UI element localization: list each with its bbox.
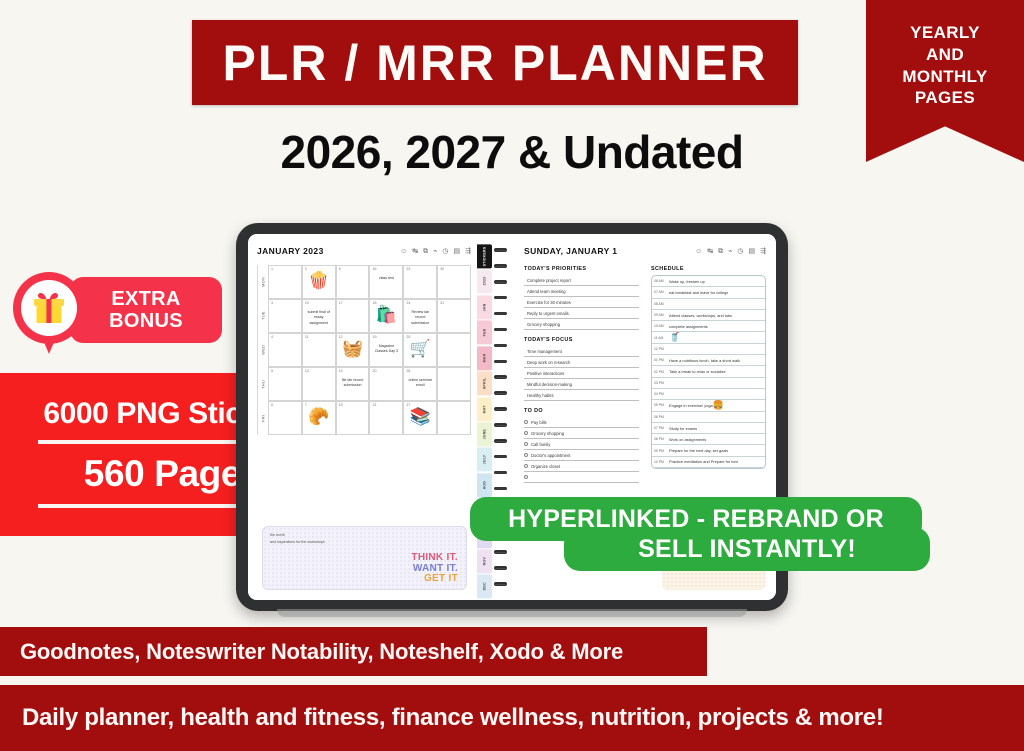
smiley-icon[interactable]: ☺ xyxy=(695,248,702,255)
focus-item[interactable]: Healthy habits xyxy=(524,390,639,401)
schedule-time: 10 AM xyxy=(652,324,669,328)
topics-bar: Daily planner, health and fitness, finan… xyxy=(0,685,1024,751)
calendar-day-number: 24 xyxy=(406,301,434,305)
daily-right-column: SCHEDULE 06 AMWake up, freshen up07 AMea… xyxy=(651,266,766,483)
priority-item[interactable]: Grocery shopping xyxy=(524,319,639,330)
calendar-day-number: 4 xyxy=(271,335,299,339)
schedule-row[interactable]: 07 AMeat breakfast and leave for college xyxy=(652,287,765,298)
focus-item[interactable]: Mindful decision-making xyxy=(524,379,639,390)
calendar-cell[interactable]: 6 xyxy=(268,401,302,435)
todo-list[interactable]: Pay billsGrocery shoppingCall familyDoct… xyxy=(524,417,639,483)
focus-list[interactable]: Time managementDeep work on researchPosi… xyxy=(524,346,639,401)
calendar-sticker[interactable]: 🛍️ xyxy=(372,306,400,323)
schedule-row[interactable]: 09 AMAttend classes, workshops, and labs xyxy=(652,310,765,321)
hyperlinked-badge: HYPERLINKED - REBRAND OR SELL INSTANTLY! xyxy=(470,497,930,569)
calendar-day-number: 9 xyxy=(339,267,367,271)
calendar-day-number: 23 xyxy=(406,267,434,271)
schedule-entry: Prepare for the next day, set goals xyxy=(669,448,728,453)
calendar-day-labels: MONTUEWEDTHUFRI xyxy=(257,265,268,435)
spiral-ring xyxy=(494,328,507,332)
calendar-cell[interactable]: 21 xyxy=(369,401,403,435)
undo-redo-icon[interactable]: ↹ xyxy=(412,248,418,255)
spiral-ring xyxy=(494,264,507,268)
calendar-sticker[interactable]: 📚 xyxy=(406,408,434,425)
calendar-cell[interactable]: 16class test xyxy=(369,265,403,299)
schedule-sticker[interactable]: 🥤 xyxy=(669,333,680,342)
month-tab-dec[interactable]: DEC xyxy=(477,574,492,598)
schedule-row[interactable]: 02 PMTake a break to relax or socialize xyxy=(652,366,765,377)
daily-toolbar[interactable]: ☺ ↹ ⧉ ⌁ ◷ ▤ ⇶ xyxy=(695,248,766,255)
schedule-row[interactable]: 04 PM xyxy=(652,389,765,400)
schedule-time: 05 PM xyxy=(652,403,669,407)
checkbox-icon[interactable] xyxy=(524,453,528,457)
todo-item-label: Grocery shopping xyxy=(531,431,564,436)
clock-icon[interactable]: ◷ xyxy=(442,248,448,255)
schedule-time: 01 PM xyxy=(652,358,669,362)
calendar-cell[interactable]: 19Magazine Classes Day 3 xyxy=(369,333,403,367)
calendar-cell[interactable]: 1 xyxy=(268,265,302,299)
priority-item[interactable]: Reply to urgent emails xyxy=(524,308,639,319)
schedule-time: 09 PM xyxy=(652,449,669,453)
todo-item[interactable]: Doctor's appointment xyxy=(524,450,639,461)
spiral-ring xyxy=(494,375,507,379)
spiral-ring xyxy=(494,487,507,491)
calendar-day-number: 16 xyxy=(372,267,400,271)
month-tab-mar[interactable]: MAR xyxy=(477,346,492,370)
schedule-row[interactable]: 01 PMHave a nutritious lunch, take a sho… xyxy=(652,355,765,366)
spiral-ring xyxy=(494,391,507,395)
daily-left-column: TODAY'S PRIORITIES Complete project repo… xyxy=(524,266,639,483)
todo-item[interactable]: Pay bills xyxy=(524,417,639,428)
layers-icon[interactable]: ⇶ xyxy=(465,248,471,255)
schedule-time: 07 AM xyxy=(652,290,669,294)
inspiration-note-card[interactable]: the worth and inspirations for the works… xyxy=(262,526,467,590)
month-tab-2023[interactable]: 2023 xyxy=(477,269,492,293)
calendar-day-number: 26 xyxy=(406,369,434,373)
schedule-time: 11 AM xyxy=(652,336,669,340)
todo-item-label: Doctor's appointment xyxy=(531,453,570,458)
page-title: PLR / MRR PLANNER xyxy=(222,34,767,92)
todo-item-label: Call family xyxy=(531,442,550,447)
monthly-calendar-page[interactable]: JANUARY 2023 ☺ ↹ ⧉ ⌁ ◷ ▤ ⇶ MONTUEWEDTHUF… xyxy=(248,234,477,600)
month-tab-may[interactable]: MAY xyxy=(477,397,492,421)
calendar-month-title: JANUARY 2023 xyxy=(257,246,324,256)
calendar-day-number: 15 xyxy=(339,403,367,407)
calendar-cell[interactable]: 7🥐 xyxy=(302,401,336,435)
calendar-day-number: 1 xyxy=(271,267,299,271)
spiral-ring xyxy=(494,471,507,475)
calendar-day-number: 21 xyxy=(372,403,400,407)
calendar-day-label: THU xyxy=(257,367,268,401)
schedule-row[interactable]: 07 PMStudy for exams xyxy=(652,423,765,434)
page-icon[interactable]: ▤ xyxy=(454,248,461,255)
schedule-time: 02 PM xyxy=(652,370,669,374)
schedule-entry: Study for exams xyxy=(669,426,697,431)
compatible-apps-text: Goodnotes, Noteswriter Notability, Notes… xyxy=(20,639,623,665)
priority-item[interactable]: Exercise for 30 minutes xyxy=(524,297,639,308)
calendar-day-number: 13 xyxy=(305,369,333,373)
clock-icon[interactable]: ◷ xyxy=(737,248,743,255)
calendar-cell[interactable]: 17 xyxy=(336,299,370,333)
checkbox-icon[interactable] xyxy=(524,442,528,446)
focus-heading: TODAY'S FOCUS xyxy=(524,337,639,343)
calendar-day-number: 11 xyxy=(305,335,333,339)
calendar-day-number: 14 xyxy=(339,369,367,373)
spacer-2 xyxy=(524,401,639,408)
calendar-cell[interactable] xyxy=(437,333,471,367)
ribbon-line-4: PAGES xyxy=(866,87,1024,109)
todo-item-label: Pay bills xyxy=(531,420,547,425)
todo-item[interactable]: Organize closet xyxy=(524,461,639,472)
calendar-day-number: 17 xyxy=(339,301,367,305)
note-line-1: the worth xyxy=(270,532,459,539)
calendar-day-number: 5 xyxy=(271,369,299,373)
month-tab-feb[interactable]: FEB xyxy=(477,320,492,344)
calendar-cell[interactable] xyxy=(437,367,471,401)
calendar-cell[interactable]: 9 xyxy=(336,265,370,299)
calendar-header: JANUARY 2023 ☺ ↹ ⧉ ⌁ ◷ ▤ ⇶ xyxy=(257,246,471,256)
spiral-ring xyxy=(494,248,507,252)
calendar-grid[interactable]: 12🍿916class test2330310submit final of e… xyxy=(268,265,471,435)
priorities-list[interactable]: Complete project reportAttend team meeti… xyxy=(524,275,639,330)
schedule-row[interactable]: 08 AM xyxy=(652,299,765,310)
calendar-cell[interactable]: 24Review lab record submission xyxy=(403,299,437,333)
schedule-row[interactable]: 10 PMPractice meditation and Prepare for… xyxy=(652,457,765,468)
focus-item[interactable]: Deep work on research xyxy=(524,357,639,368)
month-tab-jan[interactable]: JAN xyxy=(477,295,492,319)
calendar-cell[interactable]: 14file lab record submission xyxy=(336,367,370,401)
schedule-row[interactable]: 12 PM xyxy=(652,344,765,355)
schedule-time: 06 AM xyxy=(652,279,669,283)
calendar-sticker[interactable]: 🧺 xyxy=(339,340,367,357)
schedule-heading: SCHEDULE xyxy=(651,266,766,272)
calendar-cell[interactable]: 23 xyxy=(403,265,437,299)
daily-body: TODAY'S PRIORITIES Complete project repo… xyxy=(524,266,766,483)
extra-bonus-line-1: EXTRA xyxy=(111,288,180,310)
calendar-event-text: submit final of essay assignment xyxy=(305,310,333,326)
spiral-ring xyxy=(494,280,507,284)
schedule-entry: Engage in exercise/ yoga xyxy=(669,403,713,408)
schedule-row[interactable]: 10 AMcomplete assignments xyxy=(652,321,765,332)
month-tab-july[interactable]: JULY xyxy=(477,447,492,471)
priorities-heading: TODAY'S PRIORITIES xyxy=(524,266,639,272)
calendar-day-number: 20 xyxy=(372,369,400,373)
ribbon-line-2: AND xyxy=(866,44,1024,66)
schedule-entry: Practice meditation and Prepare for bed xyxy=(669,459,738,464)
calendar-cell[interactable]: 20 xyxy=(369,367,403,401)
calendar-event-text: Magazine Classes Day 3 xyxy=(372,344,400,355)
ribbon-line-1: YEARLY xyxy=(866,22,1024,44)
spiral-ring xyxy=(494,312,507,316)
schedule-row[interactable]: 09 PMPrepare for the next day, set goals xyxy=(652,445,765,456)
schedule-sticker[interactable]: 🍔 xyxy=(713,401,724,410)
pen-stroke-icon[interactable]: ⌁ xyxy=(433,248,437,255)
calendar-day-label: MON xyxy=(257,265,268,299)
schedule-time: 08 AM xyxy=(652,302,669,306)
calendar-sticker[interactable]: 🛒 xyxy=(406,340,434,357)
spiral-ring xyxy=(494,582,507,586)
schedule-row[interactable]: 06 AMWake up, freshen up xyxy=(652,276,765,287)
todo-item-label: Organize closet xyxy=(531,464,560,469)
calendar-cell[interactable]: 3 xyxy=(268,299,302,333)
month-tab-stickers[interactable]: STICKERS xyxy=(477,244,492,268)
calendar-grid-wrapper: MONTUEWEDTHUFRI 12🍿916class test2330310s… xyxy=(257,265,471,435)
calendar-event-text: class test xyxy=(372,276,400,281)
schedule-time: 12 PM xyxy=(652,347,669,351)
spiral-ring xyxy=(494,360,507,364)
calendar-cell[interactable]: 26online seminar enroll xyxy=(403,367,437,401)
checkbox-icon[interactable] xyxy=(524,475,528,479)
compatible-apps-bar: Goodnotes, Noteswriter Notability, Notes… xyxy=(0,627,707,676)
calendar-cell[interactable]: 31 xyxy=(437,299,471,333)
calendar-day-number: 30 xyxy=(440,267,468,271)
spacer-1 xyxy=(524,330,639,337)
calendar-cell[interactable]: 18🛍️ xyxy=(369,299,403,333)
calendar-cell[interactable]: 25🛒 xyxy=(403,333,437,367)
checkbox-icon[interactable] xyxy=(524,464,528,468)
calendar-cell[interactable]: 4 xyxy=(268,333,302,367)
calendar-day-label: TUE xyxy=(257,299,268,333)
month-tab-april[interactable]: APRIL xyxy=(477,371,492,395)
topics-text: Daily planner, health and fitness, finan… xyxy=(22,704,884,732)
schedule-entry: Work on assignments xyxy=(669,437,706,442)
schedule-row[interactable]: 08 PMWork on assignments xyxy=(652,434,765,445)
schedule-time: 08 PM xyxy=(652,437,669,441)
calendar-sticker[interactable]: 🍿 xyxy=(305,272,333,289)
calendar-cell[interactable]: 27📚 xyxy=(403,401,437,435)
spiral-ring xyxy=(494,455,507,459)
schedule-time: 07 PM xyxy=(652,426,669,430)
schedule-time: 06 PM xyxy=(652,415,669,419)
priority-item[interactable]: Attend team meeting xyxy=(524,286,639,297)
extra-bonus-line-2: BONUS xyxy=(109,310,183,332)
main-title-banner: PLR / MRR PLANNER xyxy=(192,20,798,105)
camera-icon[interactable]: ⧉ xyxy=(423,248,428,255)
camera-icon[interactable]: ⧉ xyxy=(718,248,723,255)
focus-item[interactable]: Positive interactions xyxy=(524,368,639,379)
spiral-ring xyxy=(494,344,507,348)
extra-bonus-pill: EXTRA BONUS xyxy=(70,277,222,343)
todo-item[interactable]: Call family xyxy=(524,439,639,450)
calendar-event-text: Review lab record submission xyxy=(406,310,434,326)
calendar-cell[interactable]: 11 xyxy=(302,333,336,367)
hyperlinked-line-2: SELL INSTANTLY! xyxy=(564,527,930,571)
slogan-line: GET IT xyxy=(411,574,458,584)
schedule-entry: Have a nutritious lunch, take a short wa… xyxy=(669,358,740,363)
calendar-cell[interactable]: 10submit final of essay assignment xyxy=(302,299,336,333)
daily-header: SUNDAY, JANUARY 1 ☺ ↹ ⧉ ⌁ ◷ ▤ ⇶ xyxy=(524,246,766,256)
schedule-time: 10 PM xyxy=(652,460,669,464)
spiral-ring xyxy=(494,407,507,411)
calendar-event-text: online seminar enroll xyxy=(406,378,434,389)
todo-item[interactable] xyxy=(524,472,639,483)
spiral-ring xyxy=(494,296,507,300)
calendar-day-number: 10 xyxy=(305,301,333,305)
page-icon[interactable]: ▤ xyxy=(749,248,756,255)
schedule-row[interactable]: 06 PM xyxy=(652,412,765,423)
pen-stroke-icon[interactable]: ⌁ xyxy=(728,248,732,255)
priority-item[interactable]: Complete project report xyxy=(524,275,639,286)
month-tab-aug[interactable]: AUG xyxy=(477,473,492,497)
ribbon-line-3: MONTHLY xyxy=(866,66,1024,88)
schedule-time: 04 PM xyxy=(652,392,669,396)
calendar-day-number: 3 xyxy=(271,301,299,305)
undo-redo-icon[interactable]: ↹ xyxy=(707,248,713,255)
calendar-event-text: file lab record submission xyxy=(339,378,367,389)
calendar-cell[interactable]: 15 xyxy=(336,401,370,435)
note-line-2: and inspirations for the workshops xyxy=(270,539,459,546)
schedule-time: 09 AM xyxy=(652,313,669,317)
daily-date-title: SUNDAY, JANUARY 1 xyxy=(524,246,617,256)
calendar-sticker[interactable]: 🥐 xyxy=(305,408,333,425)
smiley-icon[interactable]: ☺ xyxy=(400,248,407,255)
schedule-row[interactable]: 03 PM xyxy=(652,378,765,389)
calendar-day-number: 19 xyxy=(372,335,400,339)
schedule-entry: Take a break to relax or socialize xyxy=(669,369,726,374)
month-tab-june[interactable]: JUNE xyxy=(477,422,492,446)
calendar-cell[interactable]: 5 xyxy=(268,367,302,401)
schedule-time: 03 PM xyxy=(652,381,669,385)
calendar-day-number: 31 xyxy=(440,301,468,305)
schedule-row[interactable]: 11 AM🥤 xyxy=(652,332,765,343)
schedule-entry: complete assignments xyxy=(669,324,708,329)
calendar-cell[interactable] xyxy=(437,401,471,435)
todo-item[interactable]: Grocery shopping xyxy=(524,428,639,439)
gift-box-icon xyxy=(21,280,77,336)
focus-item[interactable]: Time management xyxy=(524,346,639,357)
calendar-cell[interactable]: 12🧺 xyxy=(336,333,370,367)
slogan-block: THINK IT.WANT IT.GET IT xyxy=(411,553,458,584)
extra-bonus-badge: EXTRA BONUS xyxy=(8,272,224,354)
layers-icon[interactable]: ⇶ xyxy=(760,248,766,255)
calendar-toolbar[interactable]: ☺ ↹ ⧉ ⌁ ◷ ▤ ⇶ xyxy=(400,248,471,255)
schedule-entry: Attend classes, workshops, and labs xyxy=(669,313,732,318)
calendar-day-label: WED xyxy=(257,333,268,367)
spiral-ring xyxy=(494,423,507,427)
checkbox-icon[interactable] xyxy=(524,431,528,435)
poster-canvas: PLR / MRR PLANNER 2026, 2027 & Undated Y… xyxy=(0,0,1024,751)
calendar-day-number: 6 xyxy=(271,403,299,407)
calendar-day-label: FRI xyxy=(257,401,268,435)
calendar-cell[interactable]: 2🍿 xyxy=(302,265,336,299)
schedule-entry: eat breakfast and leave for college xyxy=(669,290,728,295)
checkbox-icon[interactable] xyxy=(524,420,528,424)
todo-heading: TO DO xyxy=(524,408,639,414)
calendar-cell[interactable]: 30 xyxy=(437,265,471,299)
bonus-pin-shape xyxy=(13,272,85,354)
schedule-row[interactable]: 05 PMEngage in exercise/ yoga🍔 xyxy=(652,400,765,411)
schedule-table[interactable]: 06 AMWake up, freshen up07 AMeat breakfa… xyxy=(651,275,766,469)
page-count: 560 Pages xyxy=(84,453,261,495)
schedule-entry: Wake up, freshen up xyxy=(669,279,705,284)
spiral-ring xyxy=(494,439,507,443)
calendar-cell[interactable]: 13 xyxy=(302,367,336,401)
